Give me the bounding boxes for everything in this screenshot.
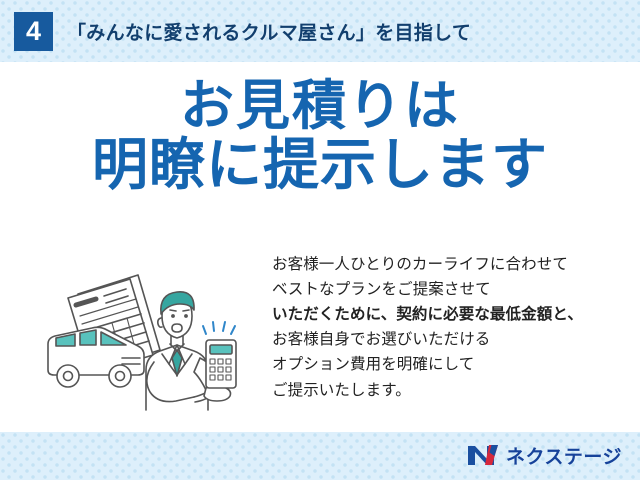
sparkle-lines bbox=[203, 322, 235, 334]
body-line-1: お客様一人ひとりのカーライフに合わせて bbox=[272, 252, 622, 277]
body-paragraph: お客様一人ひとりのカーライフに合わせて ベストなプランをご提案させて いただくた… bbox=[272, 252, 622, 403]
slide-root: 4 「みんなに愛されるクルマ屋さん」を目指して お見積りは 明瞭に提示します お… bbox=[0, 0, 640, 480]
body-line-5: オプション費用を明確にして bbox=[272, 352, 622, 377]
footer-brand-logo: ネクステージ bbox=[467, 442, 622, 468]
header-title: 「みんなに愛されるクルマ屋さん」を目指して bbox=[67, 18, 471, 45]
body-line-4: お客様自身でお選びいただける bbox=[272, 327, 622, 352]
headline-line-2: 明瞭に提示します bbox=[0, 135, 640, 194]
body-line-3: いただくために、契約に必要な最低金額と、 bbox=[272, 302, 622, 327]
body-line-6: ご提示いたします。 bbox=[272, 378, 622, 403]
body-line-2: ベストなプランをご提案させて bbox=[272, 277, 622, 302]
step-number-badge: 4 bbox=[14, 12, 53, 51]
content-panel: お見積りは 明瞭に提示します お客様一人ひとりのカーライフに合わせて ベストなプ… bbox=[0, 62, 640, 432]
page-headline: お見積りは 明瞭に提示します bbox=[0, 78, 640, 195]
nexstage-n-mark-icon bbox=[467, 443, 499, 467]
headline-line-1: お見積りは bbox=[0, 78, 640, 135]
calculator-icon bbox=[206, 340, 236, 388]
header-bar: 4 「みんなに愛されるクルマ屋さん」を目指して bbox=[0, 0, 640, 62]
brand-name-text: ネクステージ bbox=[506, 442, 622, 469]
salesman-illustration bbox=[34, 258, 264, 418]
